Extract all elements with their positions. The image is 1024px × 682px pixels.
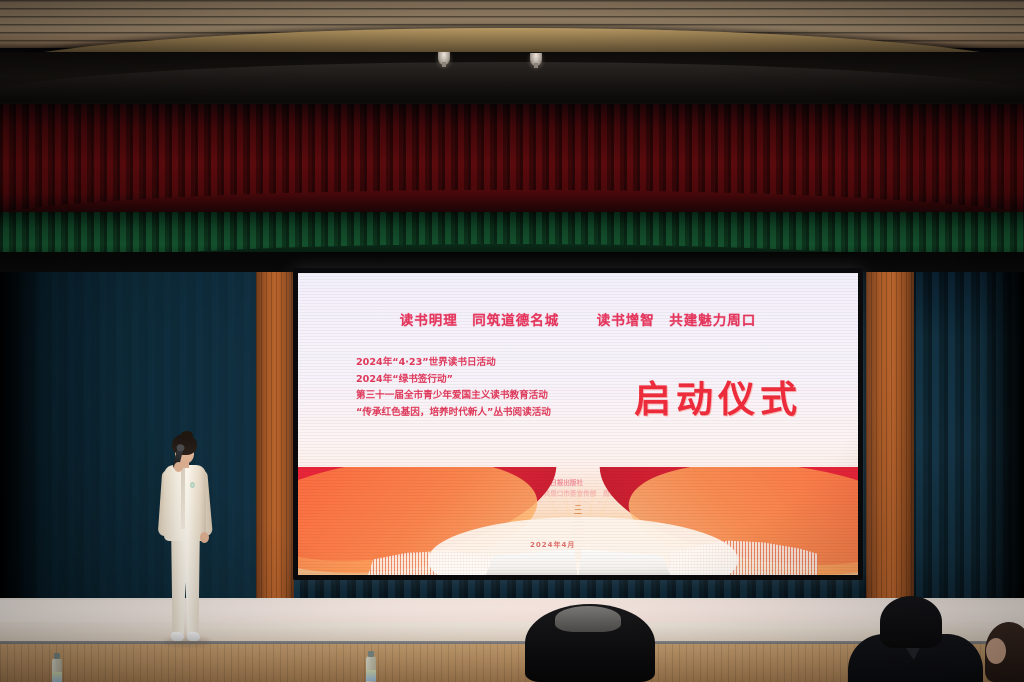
audience-head-center-right	[880, 596, 942, 648]
screen-artwork	[298, 467, 858, 575]
screen-headline: 读书明理 同筑道德名城 读书增智 共建魅力周口	[298, 309, 858, 329]
audience-head-left	[525, 604, 655, 682]
speaker-shoe-right	[187, 632, 200, 641]
activity-line-4: “传承红色基因，培养时代新人”丛书阅读活动	[356, 405, 626, 422]
speaker-hand-right	[200, 532, 209, 543]
ceiling-spotlight	[530, 53, 542, 66]
speaker-jacket-lapel	[181, 467, 185, 529]
speaker-brooch	[190, 482, 195, 488]
audience-face-right	[986, 638, 1006, 664]
speaker-shoe-left	[171, 632, 184, 641]
speaker-trousers	[170, 538, 201, 634]
water-bottle	[52, 658, 62, 682]
bottle-label	[52, 672, 62, 682]
headline-left-text: 读书明理 同筑道德名城	[400, 309, 560, 329]
activity-list: 2024年“4·23”世界读书日活动 2024年“绿书签行动” 第三十一届全市青…	[356, 355, 626, 421]
main-title: 启动仪式	[598, 369, 838, 423]
auditorium-stage-photo: 读书明理 同筑道德名城 读书增智 共建魅力周口 2024年“4·23”世界读书日…	[0, 0, 1024, 682]
activity-line-1: 2024年“4·23”世界读书日活动	[356, 355, 626, 372]
host-speaker	[150, 434, 220, 646]
speaker-hand-left	[174, 462, 183, 472]
event-date: 2024年4月	[530, 540, 575, 550]
ceiling-spotlight	[438, 52, 450, 65]
activity-line-2: 2024年“绿书签行动”	[356, 372, 626, 389]
audience-gray-hair	[555, 606, 621, 632]
bottle-cap	[54, 653, 60, 659]
speaker-hair-bun	[181, 431, 193, 439]
headline-right-text: 读书增智 共建魅力周口	[597, 309, 757, 329]
water-bottle	[366, 656, 376, 682]
bottle-label	[366, 670, 376, 681]
speaker-jacket	[164, 465, 206, 541]
wood-pillar-right	[866, 272, 914, 644]
bottle-cap	[368, 651, 374, 657]
curtain-left-shadow	[0, 272, 46, 632]
led-screen: 读书明理 同筑道德名城 读书增智 共建魅力周口 2024年“4·23”世界读书日…	[298, 273, 858, 575]
activity-line-3: 第三十一届全市青少年爱国主义读书教育活动	[356, 388, 626, 405]
curtain-right-shadow	[978, 272, 1024, 632]
wood-pillar-left	[256, 272, 294, 644]
